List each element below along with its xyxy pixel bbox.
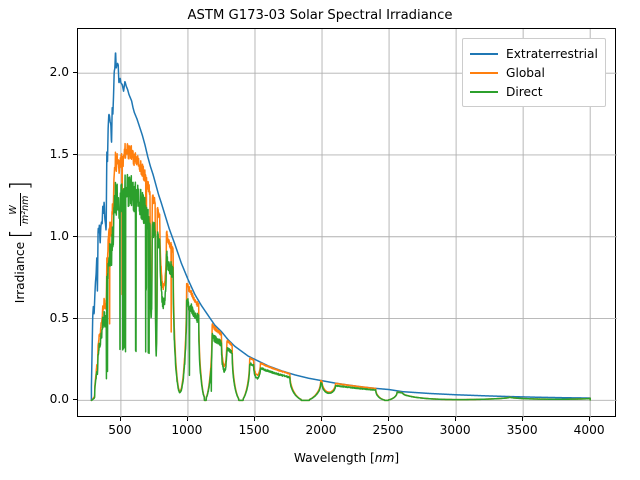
x-tick-mark [120,417,121,421]
x-tick-mark [522,417,523,421]
x-tick-label: 1500 [238,423,269,437]
y-tick-label: 0.0 [29,392,69,406]
legend-item-label: Direct [506,85,543,99]
x-tick-label: 2000 [306,423,337,437]
x-tick-label: 1000 [171,423,202,437]
x-tick-label: 3000 [440,423,471,437]
legend-item[interactable]: Extraterrestrial [470,44,598,63]
legend: ExtraterrestrialGlobalDirect [462,38,606,107]
legend-item-label: Global [506,66,545,80]
x-tick-mark [455,417,456,421]
legend-swatch-line-icon [470,91,498,93]
y-tick-label: 1.0 [29,229,69,243]
y-tick-mark [73,318,77,319]
figure-canvas: ASTM G173-03 Solar Spectral Irradiance 5… [0,0,640,480]
y-tick-mark [73,236,77,237]
y-axis-unit-numerator: W [9,203,19,217]
series-line-direct [91,175,590,401]
bracket-open: [ [10,229,30,239]
x-tick-mark [187,417,188,421]
x-axis-label-text: Wavelength [294,451,366,465]
x-axis-label-unit: nm [375,451,395,465]
y-axis-label-text: Irradiance [13,242,27,303]
x-tick-label: 500 [108,423,131,437]
legend-item[interactable]: Direct [470,82,598,101]
x-tick-mark [254,417,255,421]
y-tick-mark [73,154,77,155]
legend-item-label: Extraterrestrial [506,47,598,61]
y-axis-unit-fraction: W m²nm [9,194,31,227]
y-tick-label: 2.0 [29,65,69,79]
legend-swatch-line-icon [470,53,498,55]
y-axis-unit-denominator: m²nm [20,194,31,227]
y-tick-mark [73,72,77,73]
legend-swatch-line-icon [470,72,498,74]
x-tick-mark [321,417,322,421]
page-title: ASTM G173-03 Solar Spectral Irradiance [0,8,640,23]
x-tick-mark [388,417,389,421]
x-axis-label: Wavelength [nm] [77,451,616,465]
x-tick-label: 3500 [507,423,538,437]
y-tick-label: 0.5 [29,311,69,325]
y-tick-mark [73,399,77,400]
y-axis-label: Irradiance [ W m²nm ] [9,181,31,304]
x-tick-mark [589,417,590,421]
legend-item[interactable]: Global [470,63,598,82]
x-tick-label: 4000 [574,423,605,437]
y-tick-label: 1.5 [29,147,69,161]
bracket-close: ] [10,181,30,191]
x-tick-label: 2500 [373,423,404,437]
